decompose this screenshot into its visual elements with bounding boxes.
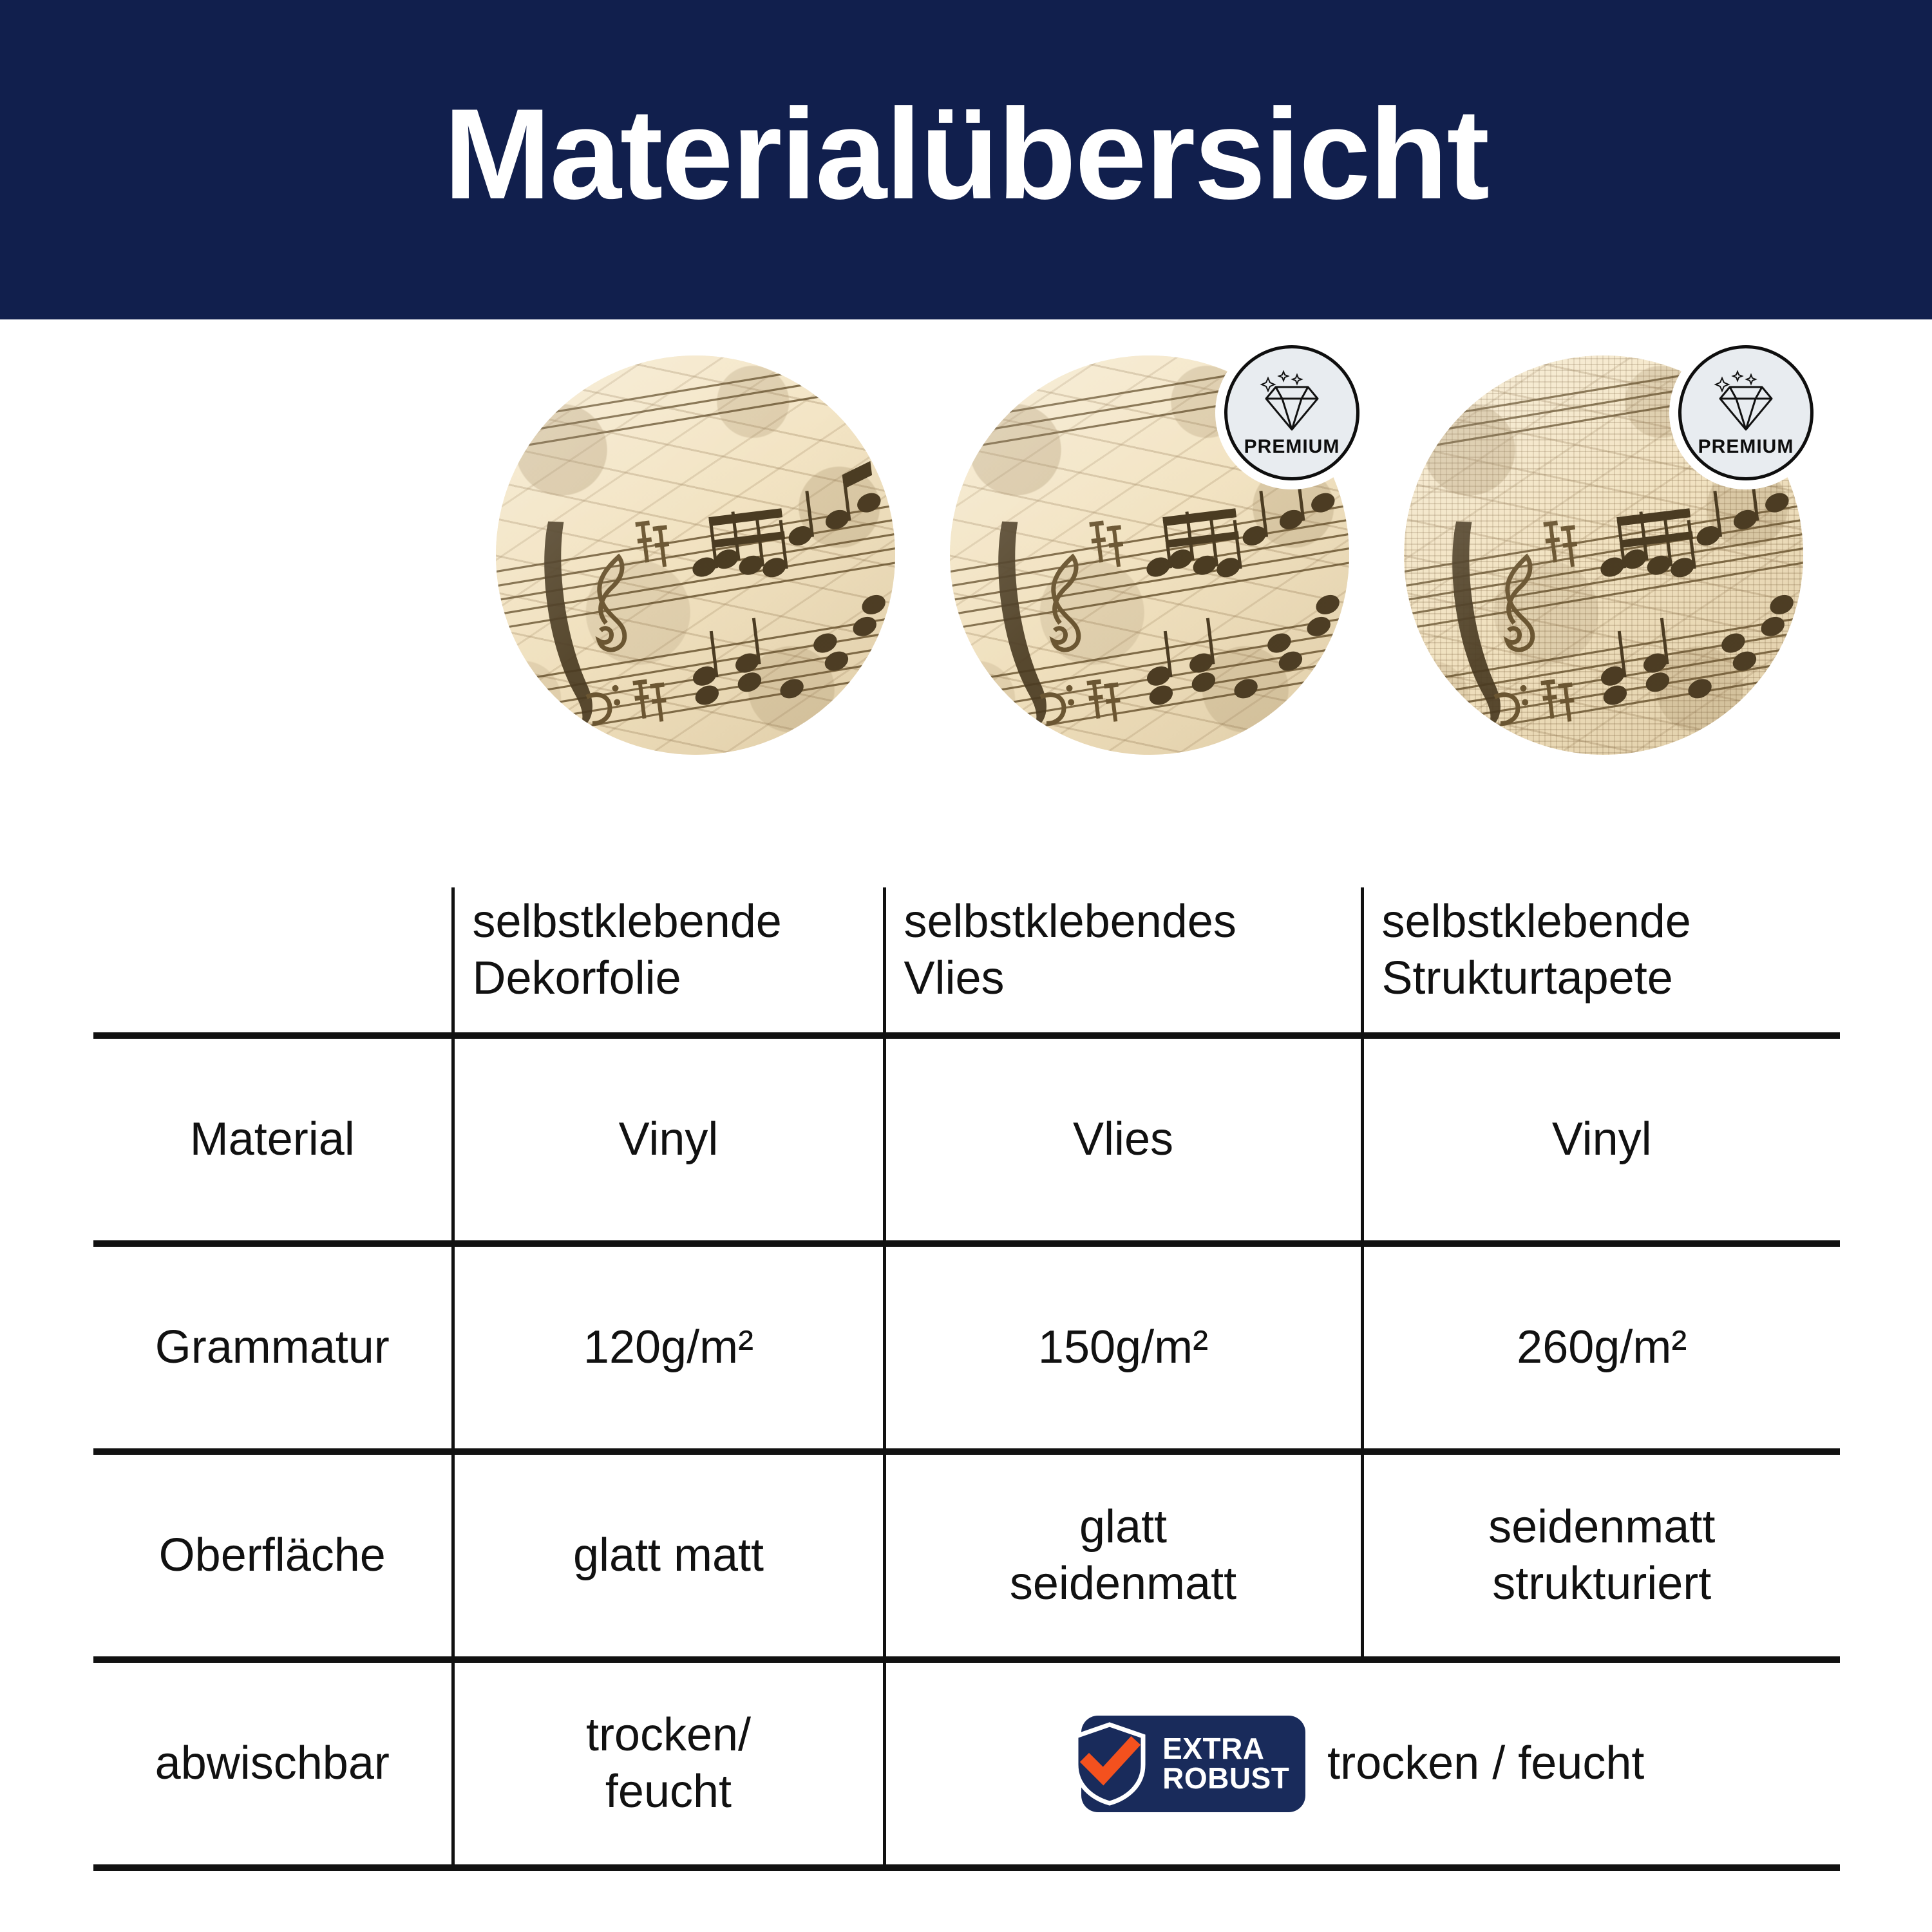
premium-badge-label: PREMIUM — [1244, 436, 1340, 458]
row-label-material: Material — [93, 1036, 453, 1244]
column-header-line2: Vlies — [904, 951, 1352, 1007]
cell-material-vlies: Vlies — [884, 1036, 1362, 1244]
premium-badge-label: PREMIUM — [1698, 436, 1794, 458]
cell-abwischbar-dekorfolie: trocken/ feucht — [453, 1660, 884, 1868]
shield-check-icon — [1071, 1722, 1148, 1806]
cell-grammatur-vlies: 150g/m² — [884, 1244, 1362, 1452]
swatch-image-dekorfolie — [496, 355, 895, 755]
column-header-line1: selbstklebendes — [904, 894, 1352, 951]
column-header-vlies: selbstklebendes Vlies — [884, 887, 1362, 1036]
cell-abwischbar-value: trocken / feucht — [1327, 1736, 1644, 1792]
extra-robust-line1: EXTRA — [1162, 1734, 1289, 1763]
swatch-dekorfolie[interactable] — [496, 355, 895, 755]
premium-badge: PREMIUM — [1678, 345, 1814, 480]
row-label-grammatur: Grammatur — [93, 1244, 453, 1452]
table-row-oberflaeche: Oberfläche glatt matt glatt seidenmatt s… — [93, 1452, 1840, 1660]
corner-cell — [93, 887, 453, 1036]
column-header-line1: selbstklebende — [1382, 894, 1832, 951]
column-header-line1: selbstklebende — [473, 894, 874, 951]
cell-abwischbar-vlies-strukturtapete: EXTRA ROBUST trocken / feucht — [884, 1660, 1840, 1868]
swatch-strukturtapete[interactable]: PREMIUM — [1404, 355, 1803, 755]
header-banner: Materialübersicht — [0, 0, 1932, 319]
extra-robust-badge: EXTRA ROBUST — [1081, 1716, 1305, 1812]
spec-table: selbstklebende Dekorfolie selbstklebende… — [93, 887, 1840, 1871]
diamond-icon — [1256, 370, 1327, 432]
column-header-strukturtapete: selbstklebende Strukturtapete — [1362, 887, 1840, 1036]
swatch-vlies[interactable]: PREMIUM — [950, 355, 1349, 755]
table-header-row: selbstklebende Dekorfolie selbstklebende… — [93, 887, 1840, 1036]
page-title: Materialübersicht — [444, 90, 1488, 219]
cell-oberflaeche-dekorfolie: glatt matt — [453, 1452, 884, 1660]
swatch-sheen — [496, 355, 895, 755]
table-row-abwischbar: abwischbar trocken/ feucht EXTRA ROBUST — [93, 1660, 1840, 1868]
table-row-material: Material Vinyl Vlies Vinyl — [93, 1036, 1840, 1244]
cell-material-dekorfolie: Vinyl — [453, 1036, 884, 1244]
premium-badge: PREMIUM — [1224, 345, 1359, 480]
cell-grammatur-dekorfolie: 120g/m² — [453, 1244, 884, 1452]
extra-robust-line2: ROBUST — [1162, 1764, 1289, 1793]
column-header-line2: Dekorfolie — [473, 951, 874, 1007]
column-header-dekorfolie: selbstklebende Dekorfolie — [453, 887, 884, 1036]
table-row-grammatur: Grammatur 120g/m² 150g/m² 260g/m² — [93, 1244, 1840, 1452]
row-label-oberflaeche: Oberfläche — [93, 1452, 453, 1660]
cell-material-strukturtapete: Vinyl — [1362, 1036, 1840, 1244]
cell-grammatur-strukturtapete: 260g/m² — [1362, 1244, 1840, 1452]
row-label-abwischbar: abwischbar — [93, 1660, 453, 1868]
diamond-icon — [1710, 370, 1781, 432]
cell-oberflaeche-strukturtapete: seidenmatt strukturiert — [1362, 1452, 1840, 1660]
cell-oberflaeche-vlies: glatt seidenmatt — [884, 1452, 1362, 1660]
material-spec-table: selbstklebende Dekorfolie selbstklebende… — [93, 887, 1840, 1871]
column-header-line2: Strukturtapete — [1382, 951, 1832, 1007]
material-swatch-row: PREMIUM — [0, 355, 1932, 761]
